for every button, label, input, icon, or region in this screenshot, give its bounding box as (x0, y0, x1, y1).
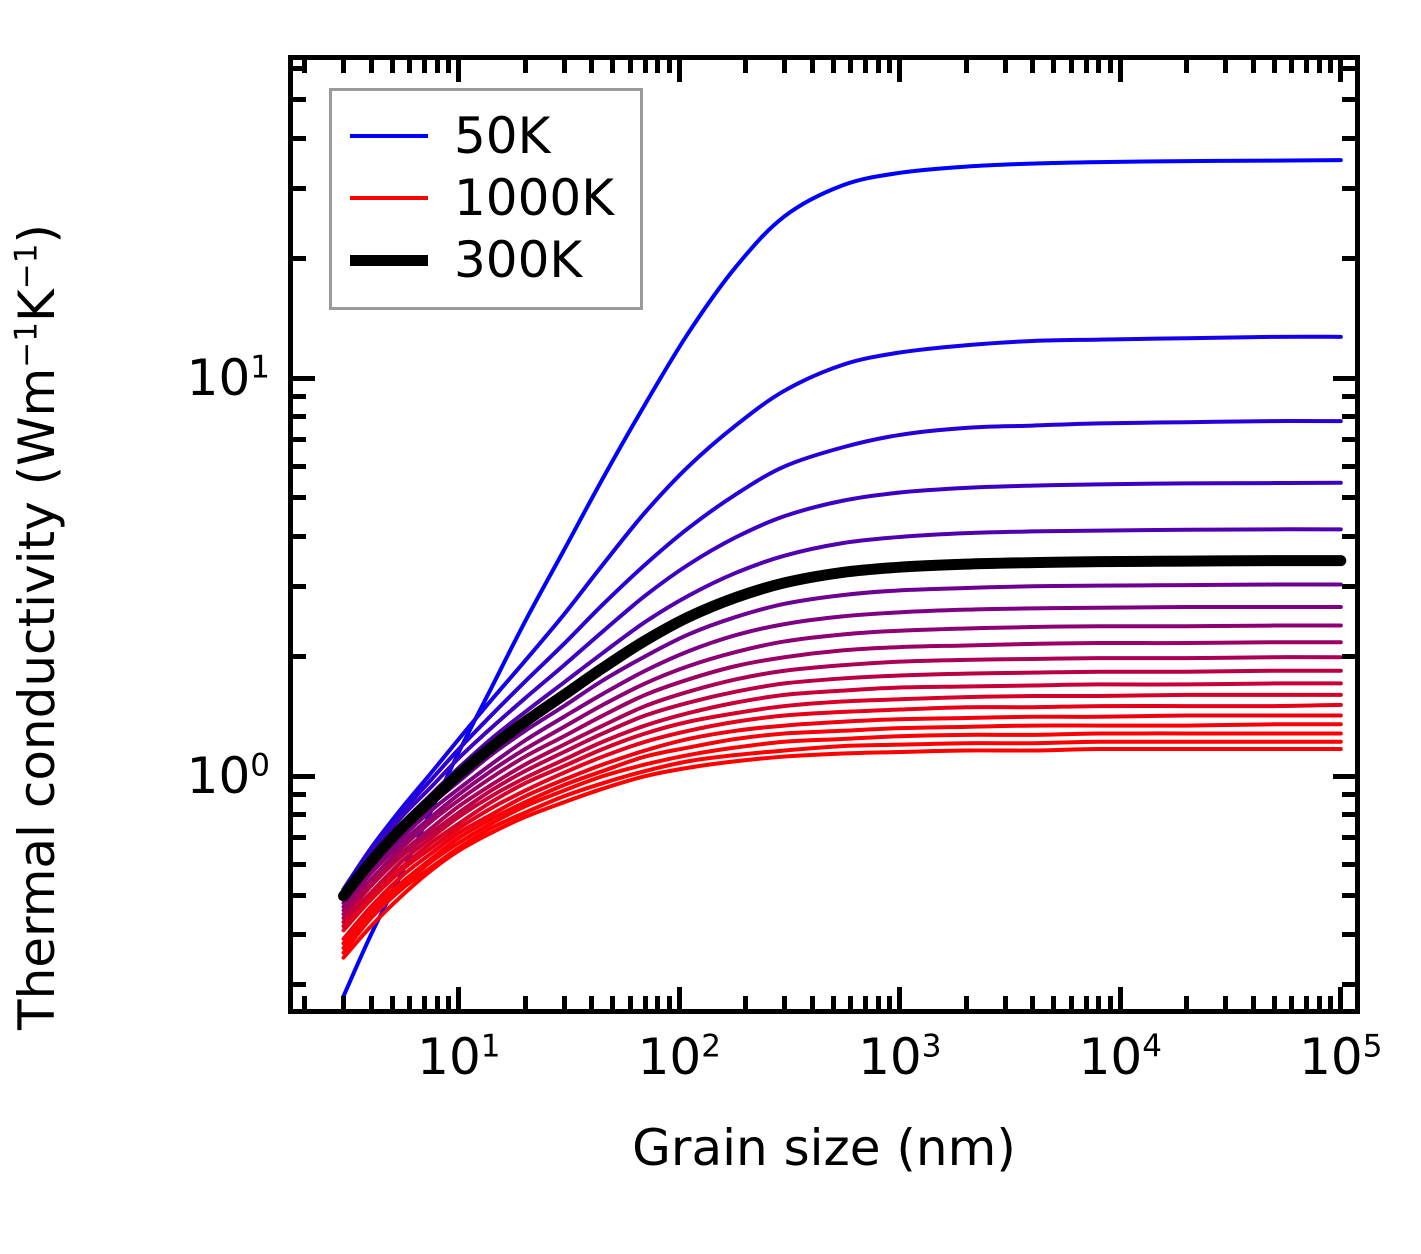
x-minor-tick-top-500 (831, 60, 836, 73)
x-major-tick-top-1e5 (1338, 60, 1343, 82)
y-minor-tick-right-0.50 (1342, 893, 1355, 898)
y-minor-tick-right-0.40 (1342, 932, 1355, 937)
x-tick-label-10: 101 (417, 1028, 500, 1086)
x-major-tick-top-1e4 (1118, 60, 1123, 82)
y-minor-tick-9.00 (293, 394, 306, 399)
x-minor-tick-2000 (964, 996, 969, 1009)
y-minor-tick-30.00 (293, 186, 306, 191)
legend: 50K1000K300K (329, 88, 643, 310)
x-major-tick-top-1e2 (677, 60, 682, 82)
y-minor-tick-right-20.00 (1342, 256, 1355, 261)
y-minor-tick-50.00 (293, 97, 306, 102)
x-minor-tick-top-80 (655, 60, 660, 73)
x-major-tick-1e1 (456, 987, 461, 1009)
y-minor-tick-right-0.80 (1342, 812, 1355, 817)
x-minor-tick-top-8 (435, 60, 440, 73)
x-axis-label-text: Grain size (nm) (632, 1119, 1016, 1177)
x-minor-tick-3000 (1003, 996, 1008, 1009)
legend-label-300k: 300K (454, 231, 582, 289)
x-minor-tick-top-700 (863, 60, 868, 73)
x-minor-tick-top-5000 (1051, 60, 1056, 73)
x-minor-tick-top-40 (589, 60, 594, 73)
legend-item-50k[interactable]: 50K (350, 105, 614, 167)
x-minor-tick-top-30 (562, 60, 567, 73)
legend-swatch-300k (350, 255, 428, 266)
legend-label-50k: 50K (454, 107, 550, 165)
y-minor-tick-right-8.00 (1342, 414, 1355, 419)
x-major-tick-1e2 (677, 987, 682, 1009)
x-minor-tick-top-7 (422, 60, 427, 73)
y-axis-label-text-c: K (8, 289, 66, 322)
y-minor-tick-0.80 (293, 812, 306, 817)
x-minor-tick-400 (810, 996, 815, 1009)
y-major-tick-1e0 (293, 774, 315, 779)
y-axis-label-text-a: Thermal conductivity (Wm (8, 368, 66, 1030)
x-minor-tick-top-4000 (1030, 60, 1035, 73)
y-major-tick-1e1 (293, 376, 315, 381)
y-minor-tick-right-30.00 (1342, 186, 1355, 191)
x-minor-tick-top-900 (887, 60, 892, 73)
x-tick-label-10000: 104 (1079, 1028, 1162, 1086)
x-minor-tick-9 (446, 996, 451, 1009)
x-major-tick-1e5 (1338, 987, 1343, 1009)
x-minor-tick-20 (523, 996, 528, 1009)
x-major-tick-top-1e3 (897, 60, 902, 82)
x-minor-tick-50000 (1272, 996, 1277, 1009)
x-minor-tick-top-400 (810, 60, 815, 73)
x-minor-tick-80 (655, 996, 660, 1009)
x-minor-tick-9000 (1108, 996, 1113, 1009)
x-minor-tick-top-200 (743, 60, 748, 73)
y-minor-tick-0.60 (293, 862, 306, 867)
y-minor-tick-0.30 (293, 982, 306, 987)
y-axis-label-exp-1: −1 (8, 322, 44, 368)
y-minor-tick-right-4.00 (1342, 534, 1355, 539)
y-minor-tick-right-60.00 (1342, 66, 1355, 71)
x-minor-tick-top-3 (341, 60, 346, 73)
y-minor-tick-right-0.60 (1342, 862, 1355, 867)
x-major-tick-top-1e1 (456, 60, 461, 82)
y-minor-tick-2.00 (293, 654, 306, 659)
x-minor-tick-500 (831, 996, 836, 1009)
x-minor-tick-top-8000 (1096, 60, 1101, 73)
y-minor-tick-right-40.00 (1342, 136, 1355, 141)
y-minor-tick-right-3.00 (1342, 584, 1355, 589)
legend-swatch-50k (350, 134, 428, 138)
x-minor-tick-top-50 (610, 60, 615, 73)
y-minor-tick-4.00 (293, 534, 306, 539)
y-minor-tick-3.00 (293, 584, 306, 589)
curve-900k (344, 733, 1341, 948)
y-axis-label: Thermal conductivity (Wm−1K−1) (0, 0, 90, 1254)
x-minor-tick-30000 (1223, 996, 1228, 1009)
x-minor-tick-4000 (1030, 996, 1035, 1009)
figure: Thermal conductivity (Wm−1K−1) Grain siz… (0, 0, 1421, 1254)
x-minor-tick-200 (743, 996, 748, 1009)
x-minor-tick-40000 (1251, 996, 1256, 1009)
x-minor-tick-top-5 (390, 60, 395, 73)
x-tick-label-100000: 105 (1299, 1028, 1382, 1086)
x-minor-tick-top-4 (369, 60, 374, 73)
x-minor-tick-5000 (1051, 996, 1056, 1009)
y-axis-label-exp-2: −1 (8, 244, 44, 290)
x-minor-tick-800 (876, 996, 881, 1009)
x-minor-tick-top-20000 (1184, 60, 1189, 73)
curve-1000k (344, 749, 1341, 958)
x-minor-tick-top-6000 (1069, 60, 1074, 73)
x-minor-tick-top-800 (876, 60, 881, 73)
x-minor-tick-top-40000 (1251, 60, 1256, 73)
x-minor-tick-4 (369, 996, 374, 1009)
curve-950k (344, 742, 1341, 953)
y-minor-tick-right-50.00 (1342, 97, 1355, 102)
x-minor-tick-6000 (1069, 996, 1074, 1009)
legend-label-1000k: 1000K (454, 169, 614, 227)
x-minor-tick-6 (407, 996, 412, 1009)
legend-item-1000k[interactable]: 1000K (350, 167, 614, 229)
x-minor-tick-90000 (1328, 996, 1333, 1009)
x-minor-tick-top-80000 (1317, 60, 1322, 73)
curve-450k (344, 625, 1341, 906)
x-minor-tick-top-9 (446, 60, 451, 73)
legend-item-300k[interactable]: 300K (350, 229, 614, 291)
x-tick-label-1000: 103 (858, 1028, 941, 1086)
x-minor-tick-2 (302, 996, 307, 1009)
legend-swatch-1000k (350, 196, 428, 200)
y-minor-tick-5.00 (293, 495, 306, 500)
x-minor-tick-top-70 (643, 60, 648, 73)
x-minor-tick-top-7000 (1084, 60, 1089, 73)
y-minor-tick-8.00 (293, 414, 306, 419)
y-minor-tick-60.00 (293, 66, 306, 71)
x-minor-tick-600 (848, 996, 853, 1009)
y-minor-tick-right-5.00 (1342, 495, 1355, 500)
x-minor-tick-20000 (1184, 996, 1189, 1009)
plot-area: 50K1000K300K (288, 55, 1360, 1014)
x-minor-tick-top-3000 (1003, 60, 1008, 73)
x-minor-tick-7 (422, 996, 427, 1009)
y-axis-label-text-e: ) (8, 224, 66, 244)
x-major-tick-1e3 (897, 987, 902, 1009)
x-minor-tick-700 (863, 996, 868, 1009)
y-minor-tick-7.00 (293, 437, 306, 442)
x-axis-label: Grain size (nm) (288, 1108, 1360, 1188)
x-minor-tick-40 (589, 996, 594, 1009)
y-minor-tick-6.00 (293, 464, 306, 469)
y-minor-tick-right-0.70 (1342, 835, 1355, 840)
x-minor-tick-top-2000 (964, 60, 969, 73)
x-minor-tick-top-70000 (1304, 60, 1309, 73)
x-minor-tick-80000 (1317, 996, 1322, 1009)
x-minor-tick-top-50000 (1272, 60, 1277, 73)
y-minor-tick-right-7.00 (1342, 437, 1355, 442)
x-tick-label-100: 102 (638, 1028, 721, 1086)
y-minor-tick-0.50 (293, 893, 306, 898)
y-major-tick-right-1e0 (1333, 774, 1355, 779)
y-minor-tick-0.90 (293, 792, 306, 797)
x-minor-tick-3 (341, 996, 346, 1009)
x-minor-tick-900 (887, 996, 892, 1009)
x-minor-tick-top-9000 (1108, 60, 1113, 73)
x-minor-tick-60 (628, 996, 633, 1009)
x-minor-tick-50 (610, 996, 615, 1009)
y-tick-label-1: 100 (158, 747, 270, 805)
y-minor-tick-right-9.00 (1342, 394, 1355, 399)
x-minor-tick-90 (667, 996, 672, 1009)
x-minor-tick-top-6 (407, 60, 412, 73)
x-minor-tick-top-90000 (1328, 60, 1333, 73)
x-minor-tick-top-90 (667, 60, 672, 73)
x-major-tick-1e4 (1118, 987, 1123, 1009)
y-major-tick-right-1e1 (1333, 376, 1355, 381)
x-minor-tick-30 (562, 996, 567, 1009)
x-minor-tick-70 (643, 996, 648, 1009)
y-minor-tick-40.00 (293, 136, 306, 141)
x-minor-tick-top-30000 (1223, 60, 1228, 73)
y-minor-tick-20.00 (293, 256, 306, 261)
x-minor-tick-top-60000 (1289, 60, 1294, 73)
x-minor-tick-300 (782, 996, 787, 1009)
y-minor-tick-right-0.90 (1342, 792, 1355, 797)
y-minor-tick-0.40 (293, 932, 306, 937)
x-minor-tick-70000 (1304, 996, 1309, 1009)
x-minor-tick-8000 (1096, 996, 1101, 1009)
y-tick-label-10: 101 (158, 349, 270, 407)
x-minor-tick-top-60 (628, 60, 633, 73)
x-minor-tick-top-600 (848, 60, 853, 73)
y-minor-tick-right-2.00 (1342, 654, 1355, 659)
y-minor-tick-right-6.00 (1342, 464, 1355, 469)
x-minor-tick-7000 (1084, 996, 1089, 1009)
x-minor-tick-60000 (1289, 996, 1294, 1009)
y-minor-tick-right-0.30 (1342, 982, 1355, 987)
x-minor-tick-top-300 (782, 60, 787, 73)
x-minor-tick-top-20 (523, 60, 528, 73)
x-minor-tick-8 (435, 996, 440, 1009)
y-minor-tick-0.70 (293, 835, 306, 840)
x-minor-tick-5 (390, 996, 395, 1009)
